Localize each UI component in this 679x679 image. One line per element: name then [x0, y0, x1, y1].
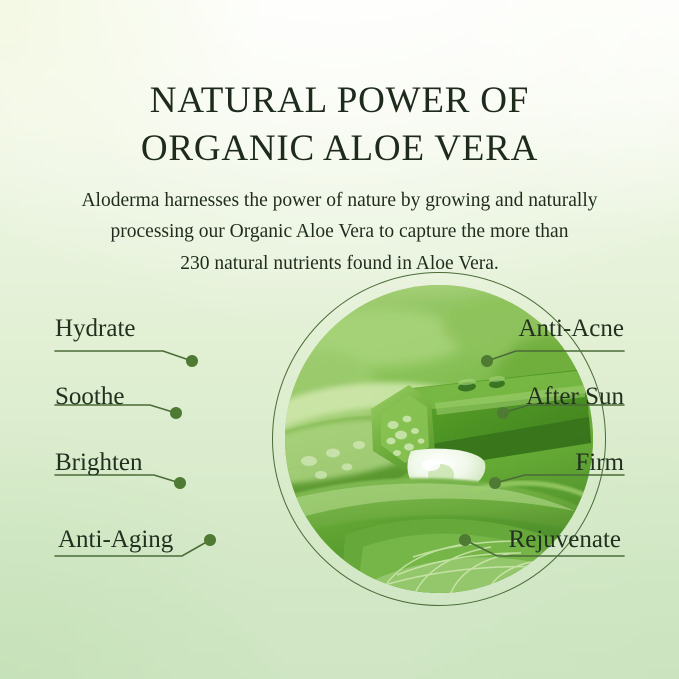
aloe-vera-infographic-poster: NATURAL POWER OF ORGANIC ALOE VERA Alode… [0, 0, 679, 679]
page-title-line-1: NATURAL POWER OF [0, 77, 679, 125]
benefit-label-firm[interactable]: Firm [0, 450, 624, 475]
page-description: Aloderma harnesses the power of nature b… [40, 185, 640, 280]
benefit-label-rejuvenate[interactable]: Rejuvenate [0, 527, 621, 552]
page-title: NATURAL POWER OF ORGANIC ALOE VERA [0, 77, 679, 173]
benefit-label-after-sun[interactable]: After Sun [0, 384, 624, 409]
page-title-line-2: ORGANIC ALOE VERA [0, 125, 679, 173]
connector-line-hydrate [55, 351, 192, 361]
connector-dot-brighten [174, 477, 186, 489]
page-description-line-3: 230 natural nutrients found in Aloe Vera… [40, 248, 640, 280]
benefit-label-anti-acne[interactable]: Anti-Acne [0, 316, 624, 341]
connector-line-brighten [55, 475, 180, 483]
page-description-line-1: Aloderma harnesses the power of nature b… [40, 185, 640, 217]
page-description-line-2: processing our Organic Aloe Vera to capt… [40, 216, 640, 248]
connector-dot-hydrate [186, 355, 198, 367]
